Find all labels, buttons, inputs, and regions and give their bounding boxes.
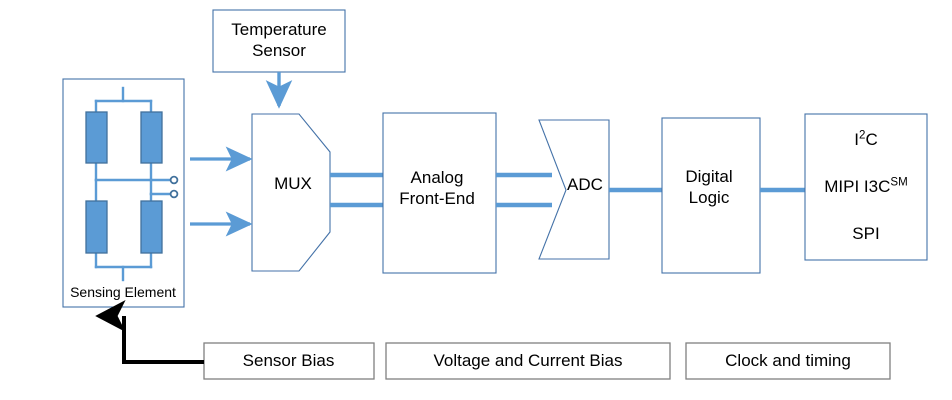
clock-and-timing-box[interactable]: [686, 343, 890, 379]
resistor-bottom-right: [141, 201, 162, 253]
spi-base: SPI: [852, 224, 879, 243]
connector-sensorbias-to-sensing: [124, 316, 204, 362]
sensor-bias-box[interactable]: [204, 343, 374, 379]
interface-protocol-i2c: I2C: [854, 130, 877, 150]
resistor-top-left: [86, 112, 107, 163]
i3c-superscript: SM: [890, 176, 907, 188]
interface-protocol-mipi-i3c: MIPI I3CSM: [824, 177, 907, 197]
mux-block[interactable]: [252, 114, 330, 271]
resistor-bottom-left: [86, 201, 107, 253]
i2c-tail: C: [865, 130, 877, 149]
bridge-output-terminal-2: [171, 191, 178, 198]
digital-logic-box[interactable]: [662, 118, 760, 273]
voltage-current-bias-box[interactable]: [386, 343, 670, 379]
block-diagram-canvas: Temperature Sensor Sensing Element MUX A…: [0, 0, 952, 400]
i3c-base: MIPI I3C: [824, 177, 890, 196]
bridge-output-terminal-1: [171, 177, 178, 184]
interface-protocol-spi: SPI: [852, 224, 879, 244]
adc-block[interactable]: [539, 120, 609, 259]
temperature-sensor-box[interactable]: [213, 10, 345, 72]
resistor-top-right: [141, 112, 162, 163]
analog-front-end-box[interactable]: [383, 113, 496, 273]
interface-protocol-list: I2C MIPI I3CSM SPI: [806, 116, 926, 258]
